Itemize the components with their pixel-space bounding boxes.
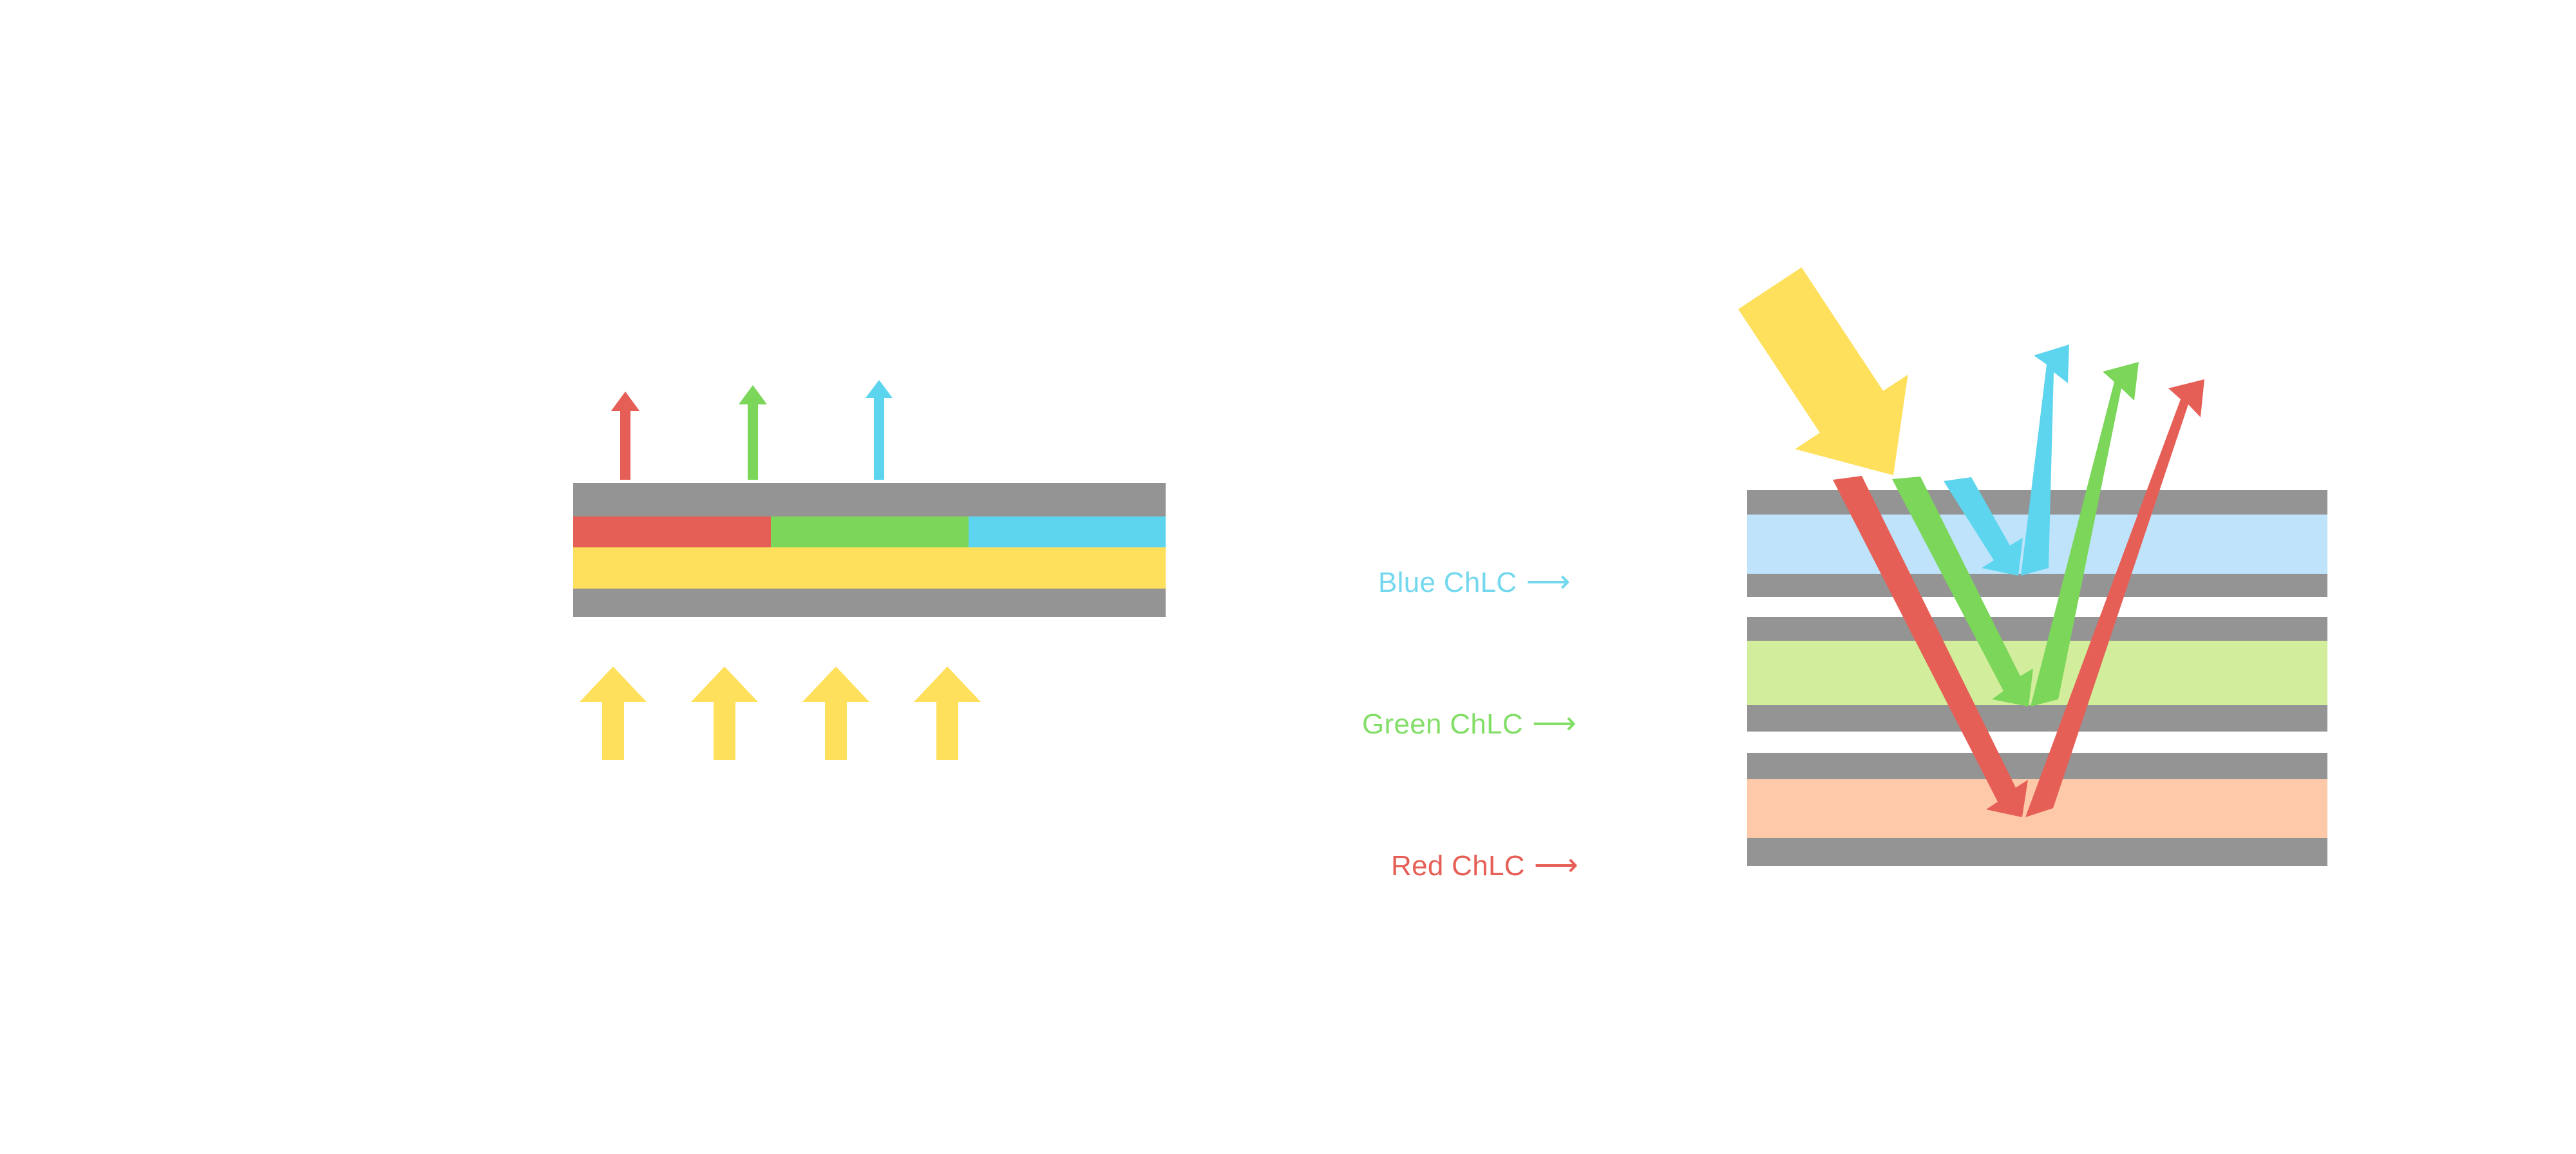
cholesteric-reflective-panel: Blue ChLC⟶ Green ChLC⟶ Red ChLC⟶ bbox=[1378, 258, 2370, 889]
backlight-arrow-3 bbox=[802, 667, 869, 760]
backlight-arrow-4 bbox=[914, 667, 981, 760]
backlight-arrow-group bbox=[567, 663, 1185, 811]
color-filter-segment-green bbox=[771, 516, 968, 547]
figure-canvas: Blue ChLC⟶ Green ChLC⟶ Red ChLC⟶ bbox=[0, 0, 2576, 1154]
emitted-blue-arrow bbox=[866, 380, 893, 480]
ambient-light-arrow bbox=[1738, 267, 1908, 475]
emissive-backlight-panel bbox=[567, 270, 1185, 811]
backlight-arrow-1 bbox=[580, 667, 647, 760]
stack-layer-backlight bbox=[573, 547, 1166, 589]
color-filter-segment-red bbox=[573, 516, 771, 547]
ray-overlay-svg bbox=[1378, 258, 2370, 889]
stack-layer-bottom-electrode bbox=[573, 589, 1166, 617]
emitted-red-arrow bbox=[611, 392, 639, 480]
backlight-arrows-svg bbox=[567, 663, 1185, 811]
blue-ray bbox=[1944, 345, 2069, 576]
emitted-light-arrow-group bbox=[567, 270, 1185, 483]
stack-layer-color-filter bbox=[573, 516, 1166, 547]
emitted-green-arrow bbox=[739, 385, 767, 480]
emitted-arrows-svg bbox=[567, 270, 1185, 483]
emissive-stack bbox=[573, 483, 1166, 617]
color-filter-segment-blue bbox=[969, 516, 1166, 547]
ambient-light-arrow-shape bbox=[1738, 267, 1908, 475]
backlight-arrow-2 bbox=[691, 667, 758, 760]
stack-layer-top-electrode bbox=[573, 483, 1166, 516]
